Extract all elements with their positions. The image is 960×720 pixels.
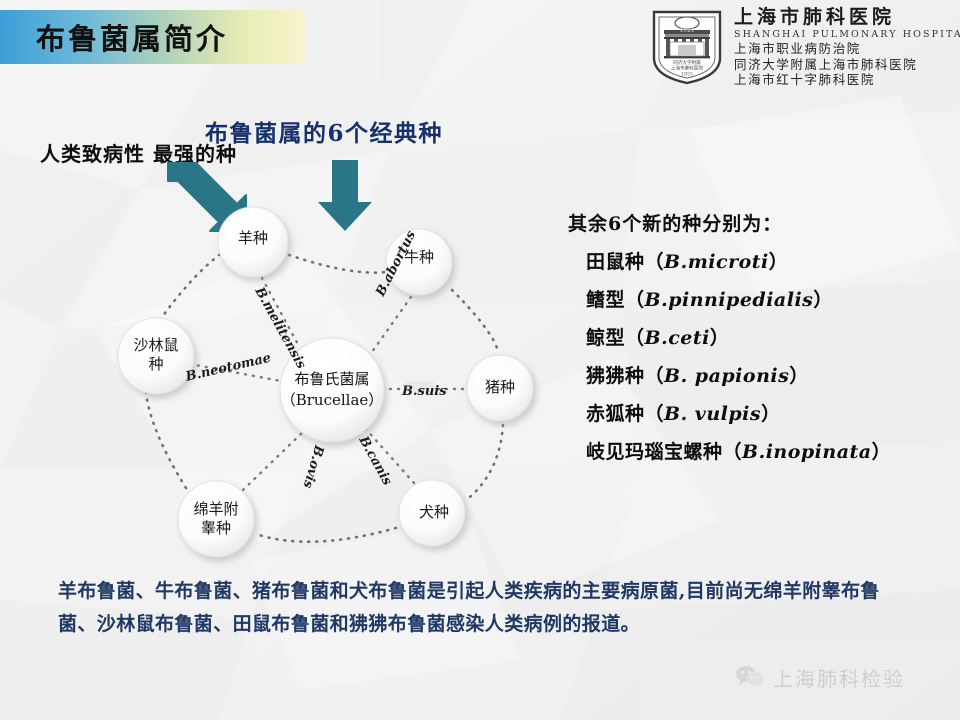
new-species-close-5: ） — [761, 403, 781, 425]
spoke-cow — [372, 297, 411, 352]
new-species-item-5: 赤狐种（B. vulpis） — [568, 395, 960, 433]
new-species-item-2: 鳍型（B.pinnipedialis） — [568, 281, 960, 319]
link-woodrat-sheep — [160, 255, 219, 320]
new-species-heading: 其余6个新的种分别为： — [568, 205, 960, 243]
new-species-latin-2: B.pinnipedialis — [645, 289, 814, 311]
new-species-latin-5: B. vulpis — [664, 403, 761, 425]
new-species-latin-6: B.inopinata — [742, 441, 872, 463]
new-species-cn-3: 鲸型（ — [586, 327, 645, 349]
new-species-close-3: ） — [710, 327, 730, 349]
link-pig-dog — [470, 425, 503, 497]
new-species-cn-5: 赤狐种（ — [586, 403, 664, 425]
new-species-item-4: 狒狒种（B. papionis） — [568, 357, 960, 395]
new-species-cn-2: 鳍型（ — [586, 289, 645, 311]
diagram-node-pig — [467, 355, 533, 421]
new-species-list: 其余6个新的种分别为： 田鼠种（B.microti） 鳍型（B.pinniped… — [568, 205, 960, 471]
watermark-label: 上海肺科检验 — [773, 663, 905, 692]
wechat-watermark: 上海肺科检验 — [735, 662, 905, 692]
new-species-close-4: ） — [789, 365, 809, 387]
new-species-close-6: ） — [872, 441, 892, 463]
diagram-center-label: 布鲁氏菌属 （Brucellae） — [272, 369, 392, 411]
new-species-close-2: ） — [813, 289, 833, 311]
new-species-item-6: 岐见玛瑙宝螺种（B.inopinata） — [568, 433, 960, 471]
diagram-node-woodrat — [118, 318, 194, 394]
diagram-node-sheep — [218, 207, 288, 277]
summary-paragraph: 羊布鲁菌、牛布鲁菌、猪布鲁菌和犬布鲁菌是引起人类疾病的主要病原菌,目前尚无绵羊附… — [58, 575, 908, 641]
new-species-cn-6: 岐见玛瑙宝螺种（ — [586, 441, 742, 463]
new-species-latin-1: B.microti — [664, 251, 769, 273]
diagram-node-dog — [399, 480, 465, 546]
link-ram-woodrat — [146, 392, 186, 488]
diagram-node-ram — [178, 481, 254, 557]
new-species-cn-1: 田鼠种（ — [586, 251, 664, 273]
new-species-cn-4: 狒狒种（ — [586, 365, 664, 387]
new-species-item-1: 田鼠种（B.microti） — [568, 243, 960, 281]
new-species-latin-3: B.ceti — [645, 327, 710, 349]
new-species-latin-4: B. papionis — [664, 365, 789, 387]
link-sheep-cow — [289, 255, 386, 273]
new-species-item-3: 鲸型（B.ceti） — [568, 319, 960, 357]
slide-root: 布鲁菌属简介 1921 — [0, 0, 960, 720]
link-dog-ram — [256, 528, 396, 542]
new-species-close-1: ） — [769, 251, 789, 273]
species-label-suis: B.suis — [402, 384, 447, 399]
link-cow-pig — [452, 290, 498, 351]
spoke-ram — [243, 430, 305, 490]
wechat-icon — [735, 664, 765, 690]
